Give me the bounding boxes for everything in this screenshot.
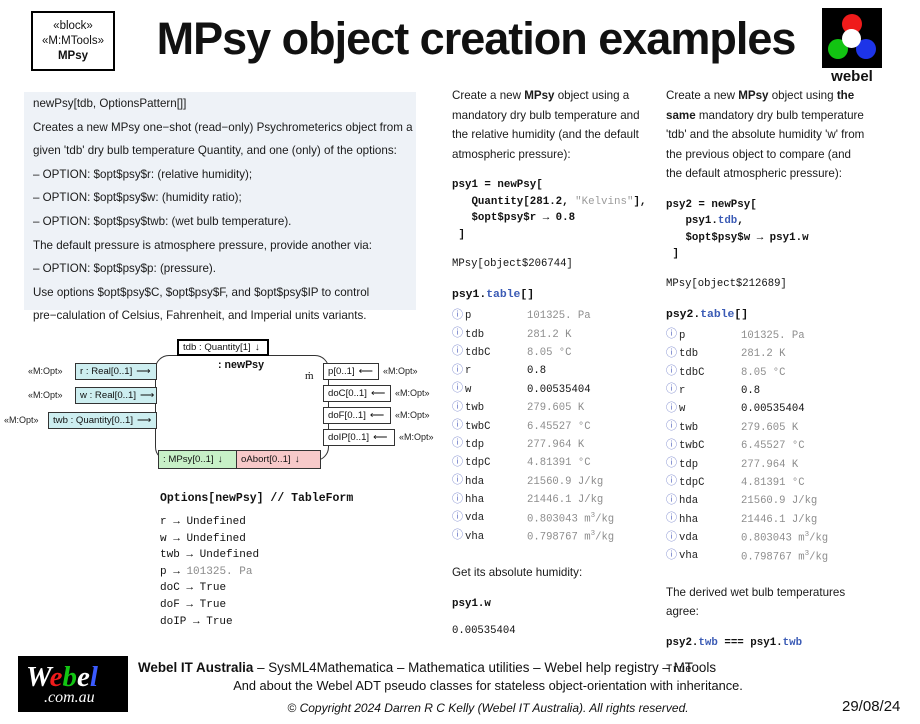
webel-footer-domain: .com.au [44,689,95,707]
info-icon[interactable]: ⓘ [666,385,679,396]
info-icon[interactable]: ⓘ [666,404,679,415]
psy2-input-code[interactable]: psy2 = newPsy[ psy1.tdb, $opt$psy$w → ps… [666,197,866,263]
block-name: MPsy [58,49,88,64]
psy1-table-rows: ⓘp101325. Paⓘtdb281.2 KⓘtdbC8.05 °Cⓘr0.8… [452,307,652,546]
port-r[interactable]: r : Real[0..1] ⟶ [75,363,157,380]
psy1-humidity-output: 0.00535404 [452,623,652,639]
psy-table-value: 8.05 °C [527,347,572,359]
port-tdb[interactable]: tdb : Quantity[1] ↓ [177,339,269,356]
psy-table-value: 101325. Pa [741,330,805,342]
doc-line: – OPTION: $opt$psy$p: (pressure). [24,257,416,281]
option-value: True [200,599,226,611]
logo-dot-white [842,29,861,48]
port-doC-label: doC[0..1] [328,386,367,401]
psy-table-value: 277.964 K [741,459,798,471]
doc-line: – OPTION: $opt$psy$twb: (wet bulb temper… [24,210,416,234]
psy1-output: MPsy[object$206744] [452,256,652,272]
psy-table-value: 21446.1 J/kg [527,494,603,506]
info-icon[interactable]: ⓘ [666,349,679,360]
footer-copyright: © Copyright 2024 Darren R C Kelly (Webel… [138,699,838,717]
psy1-description: Create a new MPsy object using a mandato… [452,86,652,164]
block-stereotype-2: «M:MTools» [42,34,104,49]
option-key: doF [160,599,180,611]
example-column-psy1: Create a new MPsy object using a mandato… [452,86,652,639]
psy-table-row: ⓘvha0.798767 m3/kg [452,528,652,546]
psy-table-row: ⓘtdb281.2 K [452,325,652,343]
newpsy-activity-label: : newPsy [155,359,327,371]
stereotype-right-4: «M:Opt» [399,432,434,442]
psy-table-key: tdpC [679,477,741,489]
port-mpsy-result[interactable]: : MPsy[0..1] ↓ [158,450,243,469]
psy-table-key: tdpC [465,457,527,469]
option-key: w [160,533,167,545]
stereotype-left-3: «M:Opt» [4,415,39,425]
psy-table-row: ⓘhha21446.1 J/kg [666,511,866,529]
option-value: True [206,616,232,628]
psy-table-value: 21446.1 J/kg [741,514,817,526]
documentation-panel: newPsy[tdb, OptionsPattern[]] Creates a … [24,92,416,310]
psy-table-key: twb [465,402,527,414]
option-value: Undefined [200,549,259,561]
psy-table-value: 21560.9 J/kg [527,476,603,488]
psy-table-value: 101325. Pa [527,310,591,322]
psy-table-row: ⓘw0.00535404 [666,400,866,418]
psy-table-key: twb [679,422,741,434]
doc-line: The default pressure is atmosphere press… [24,234,416,258]
option-key: twb [160,549,180,561]
option-row: doC → True [160,580,440,597]
arrow-down-icon: ↓ [255,340,260,355]
option-key: r [160,516,167,528]
arrow-right-icon: ⟶ [137,413,151,428]
psy2-description: Create a new MPsy object using the same … [666,86,866,184]
psy-table-row: ⓘtdpC4.81391 °C [666,474,866,492]
doc-line: pre−calulation of Celsius, Fahrenheit, a… [24,304,416,328]
stereotype-left-2: «M:Opt» [28,390,63,400]
info-icon[interactable]: ⓘ [452,403,465,414]
psy-table-row: ⓘr0.8 [452,362,652,380]
psy-table-key: tdp [465,439,527,451]
psy1-humidity-prose: Get its absolute humidity: [452,563,652,583]
option-value: True [200,582,226,594]
webel-logo-icon [822,8,882,68]
psy-table-row: ⓘtwb279.605 K [452,399,652,417]
psy-table-row: ⓘtdbC8.05 °C [452,344,652,362]
port-p[interactable]: p[0..1] ⟵ [323,363,379,380]
doc-line: Creates a new MPsy one−shot (read−only) … [24,116,416,140]
option-arrow-icon: → [173,533,180,545]
option-key: p [160,566,167,578]
options-header: Options[newPsy] // TableForm [160,492,440,505]
psy-table-row: ⓘhda21560.9 J/kg [452,473,652,491]
footer-line-1: Webel IT Australia – SysML4Mathematica –… [138,658,918,677]
psy-table-key: vda [465,512,527,524]
option-arrow-icon: → [173,516,180,528]
psy-table-row: ⓘtdb281.2 K [666,345,866,363]
port-doC[interactable]: doC[0..1] ⟵ [323,385,391,402]
psy-table-value: 0.803043 m3/kg [527,512,614,526]
psy-table-row: ⓘvda0.803043 m3/kg [666,529,866,547]
psy-table-row: ⓘhda21560.9 J/kg [666,492,866,510]
psy-table-key: hda [679,495,741,507]
stereotype-right-3: «M:Opt» [395,410,430,420]
port-doF[interactable]: doF[0..1] ⟵ [323,407,391,424]
psy-table-key: vha [465,531,527,543]
psy2-table-title[interactable]: psy2.table[] [666,309,866,321]
block-stereotype-1: «block» [53,19,93,34]
arrow-right-icon: ⟶ [140,388,154,403]
psy-table-key: twbC [679,440,741,452]
webel-footer-wordmark: Webel [26,662,98,692]
arrow-left-icon: ⟵ [370,408,384,423]
info-icon[interactable]: ⓘ [666,422,679,433]
psy-table-key: w [679,403,741,415]
options-tableform-block: Options[newPsy] // TableForm r → Undefin… [160,492,440,630]
info-icon[interactable]: ⓘ [452,421,465,432]
psy1-input-code[interactable]: psy1 = newPsy[ Quantity[281.2, "Kelvins"… [452,177,652,243]
doc-line: given 'tdb' dry bulb temperature Quantit… [24,139,416,163]
option-row: r → Undefined [160,514,440,531]
psy-table-row: ⓘp101325. Pa [666,327,866,345]
info-icon[interactable]: ⓘ [666,330,679,341]
info-icon[interactable]: ⓘ [452,366,465,377]
page-title: MPsy object creation examples [140,8,812,70]
port-doIP-label: doIP[0..1] [328,430,369,445]
port-w[interactable]: w : Real[0..1] ⟶ [75,387,157,404]
info-icon[interactable]: ⓘ [452,513,465,524]
port-twb-label: twb : Quantity[0..1] [53,413,133,428]
psy-table-row: ⓘtwbC6.45527 °C [666,437,866,455]
psy-table-value: 277.964 K [527,439,584,451]
arrow-down-icon: ↓ [295,452,300,467]
option-arrow-icon: → [186,599,193,611]
psy-table-row: ⓘtdp277.964 K [666,455,866,473]
info-icon[interactable]: ⓘ [452,439,465,450]
info-icon[interactable]: ⓘ [666,514,679,525]
option-value: Undefined [186,533,245,545]
port-p-label: p[0..1] [328,364,355,379]
option-row: twb → Undefined [160,547,440,564]
psy2-agree-prose: The derived wet bulb temperatures agree: [666,583,866,622]
port-oabort[interactable]: oAbort[0..1] ↓ [236,450,321,469]
info-icon[interactable]: ⓘ [452,458,465,469]
stereotype-left-1: «M:Opt» [28,366,63,376]
psy-table-key: tdbC [679,367,741,379]
psy-table-value: 279.605 K [527,402,584,414]
footer-text-block: Webel IT Australia – SysML4Mathematica –… [138,658,918,717]
arrow-left-icon: ⟵ [371,386,385,401]
psy-table-value: 8.05 °C [741,367,786,379]
psy1-humidity-code[interactable]: psy1.w [452,596,652,612]
doc-line: – OPTION: $opt$psy$w: (humidity ratio); [24,186,416,210]
psy-table-key: vda [679,532,741,544]
option-row: doF → True [160,597,440,614]
psy-table-key: vha [679,550,741,562]
block-badge: «block» «M:MTools» MPsy [31,11,115,71]
doc-line: Use options $opt$psy$C, $opt$psy$F, and … [24,281,416,305]
psy-table-value: 21560.9 J/kg [741,495,817,507]
psy-table-row: ⓘtdp277.964 K [452,436,652,454]
port-twb[interactable]: twb : Quantity[0..1] ⟶ [48,412,157,429]
info-icon[interactable]: ⓘ [452,329,465,340]
option-key: doC [160,582,180,594]
option-row: p → 101325. Pa [160,564,440,581]
rate-symbol-icon: ṁ [305,370,314,382]
info-icon[interactable]: ⓘ [666,459,679,470]
webel-footer-logo[interactable]: Webel .com.au [18,656,128,712]
psy-table-row: ⓘtdpC4.81391 °C [452,454,652,472]
info-icon[interactable]: ⓘ [666,551,679,562]
port-mpsy-result-label: : MPsy[0..1] [163,452,214,467]
psy-table-row: ⓘp101325. Pa [452,307,652,325]
doc-line: newPsy[tdb, OptionsPattern[]] [24,92,416,116]
psy-table-value: 0.00535404 [741,403,805,415]
arrow-left-icon: ⟵ [373,430,387,445]
port-doF-label: doF[0..1] [328,408,366,423]
doc-line: – OPTION: $opt$psy$r: (relative humidity… [24,163,416,187]
option-arrow-icon: → [193,616,200,628]
info-icon[interactable]: ⓘ [452,311,465,322]
info-icon[interactable]: ⓘ [666,441,679,452]
psy2-output: MPsy[object$212689] [666,276,866,292]
psy-table-row: ⓘw0.00535404 [452,381,652,399]
psy-table-key: hha [679,514,741,526]
info-icon[interactable]: ⓘ [452,384,465,395]
option-value: 101325. Pa [186,566,252,578]
port-doIP[interactable]: doIP[0..1] ⟵ [323,429,395,446]
options-rows: r → Undefinedw → Undefinedtwb → Undefine… [160,514,440,630]
footer-links: – SysML4Mathematica – Mathematica utilit… [253,660,716,675]
psy2-table-suffix: [] [734,309,748,321]
footer-company: Webel IT Australia [138,660,253,675]
footer-date: 29/08/24 [842,698,900,715]
psy-table-row: ⓘtdbC8.05 °C [666,363,866,381]
psy2-table-prefix: psy2. [666,309,700,321]
psy1-table-kw: table [486,289,520,301]
psy1-table-prefix: psy1. [452,289,486,301]
psy-table-value: 281.2 K [741,348,786,360]
psy-table-value: 0.8 [741,385,760,397]
psy1-table-suffix: [] [520,289,534,301]
stereotype-right-1: «M:Opt» [383,366,418,376]
psy-table-value: 0.8 [527,365,546,377]
psy-table-value: 281.2 K [527,329,572,341]
psy-table-key: tdb [679,348,741,360]
psy-table-key: r [679,385,741,397]
psy-table-key: tdp [679,459,741,471]
option-row: doIP → True [160,614,440,631]
psy-table-value: 4.81391 °C [527,457,591,469]
psy-table-key: tdb [465,329,527,341]
info-icon[interactable]: ⓘ [452,531,465,542]
psy2-table-kw: table [700,309,734,321]
psy2-agree-code[interactable]: psy2.twb === psy1.twb [666,635,866,651]
stereotype-right-2: «M:Opt» [395,388,430,398]
psy-table-value: 6.45527 °C [527,421,591,433]
psy-table-key: p [465,310,527,322]
port-tdb-label: tdb : Quantity[1] [183,340,251,355]
port-r-label: r : Real[0..1] [80,364,132,379]
option-arrow-icon: → [186,549,193,561]
psy-table-value: 0.798767 m3/kg [527,530,614,544]
info-icon[interactable]: ⓘ [666,367,679,378]
example-column-psy2: Create a new MPsy object using the same … [666,86,866,678]
webel-wordmark: webel [822,68,882,85]
sysml-activity-diagram: : newPsy ṁ tdb : Quantity[1] ↓ «M:Opt» r… [0,330,440,480]
option-row: w → Undefined [160,531,440,548]
option-arrow-icon: → [173,566,180,578]
info-icon[interactable]: ⓘ [666,477,679,488]
psy-table-row: ⓘr0.8 [666,382,866,400]
psy-table-key: twbC [465,421,527,433]
port-oabort-label: oAbort[0..1] [241,452,291,467]
info-icon[interactable]: ⓘ [666,533,679,544]
psy-table-key: p [679,330,741,342]
psy-table-row: ⓘvha0.798767 m3/kg [666,547,866,565]
psy-table-key: hha [465,494,527,506]
arrow-down-icon: ↓ [218,452,223,467]
psy-table-row: ⓘtwb279.605 K [666,419,866,437]
psy-table-key: r [465,365,527,377]
option-key: doIP [160,616,186,628]
psy-table-row: ⓘvda0.803043 m3/kg [452,509,652,527]
psy-table-key: tdbC [465,347,527,359]
psy-table-value: 6.45527 °C [741,440,805,452]
info-icon[interactable]: ⓘ [452,347,465,358]
info-icon[interactable]: ⓘ [666,496,679,507]
psy-table-value: 0.798767 m3/kg [741,550,828,564]
info-icon[interactable]: ⓘ [452,495,465,506]
psy-table-value: 0.803043 m3/kg [741,531,828,545]
psy-table-key: w [465,384,527,396]
psy-table-value: 4.81391 °C [741,477,805,489]
arrow-left-icon: ⟵ [359,364,373,379]
port-w-label: w : Real[0..1] [80,388,136,403]
psy-table-row: ⓘhha21446.1 J/kg [452,491,652,509]
option-value: Undefined [186,516,245,528]
option-arrow-icon: → [186,582,193,594]
psy-table-value: 279.605 K [741,422,798,434]
psy-table-value: 0.00535404 [527,384,591,396]
psy1-table-title[interactable]: psy1.table[] [452,289,652,301]
psy-table-key: hda [465,476,527,488]
psy2-table-rows: ⓘp101325. Paⓘtdb281.2 KⓘtdbC8.05 °Cⓘr0.8… [666,327,866,566]
info-icon[interactable]: ⓘ [452,476,465,487]
psy-table-row: ⓘtwbC6.45527 °C [452,417,652,435]
footer-line-2: And about the Webel ADT pseudo classes f… [138,677,838,695]
arrow-right-icon: ⟶ [136,364,150,379]
